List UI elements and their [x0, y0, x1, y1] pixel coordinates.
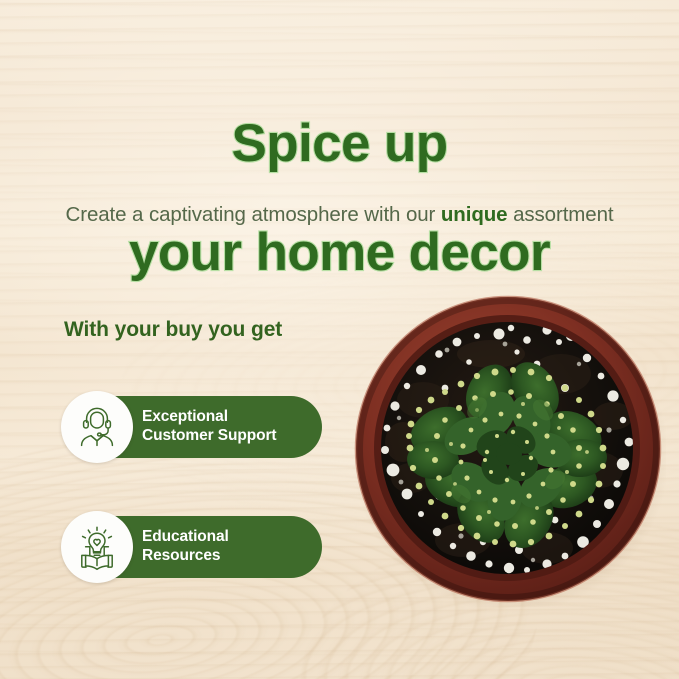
subtitle-emphasis: unique	[441, 203, 508, 226]
subtitle-text-after: assortment	[507, 203, 613, 226]
benefit-pill-label: Exceptional Customer Support	[142, 408, 276, 446]
product-photo-potted-succulent	[351, 292, 666, 607]
headset-support-agent-icon	[61, 391, 133, 463]
headline-line-2: your home decor	[0, 226, 679, 281]
promo-graphic: Spice up your home decor Create a captiv…	[0, 0, 679, 679]
subtitle-text-before: Create a captivating atmosphere with our	[66, 203, 441, 226]
benefit-pill-educational-resources: Educational Resources	[66, 516, 322, 578]
benefit-pill-customer-support: Exceptional Customer Support	[66, 396, 322, 458]
lightbulb-book-icon	[61, 511, 133, 583]
benefits-heading: With your buy you get	[64, 318, 282, 342]
benefit-pill-label: Educational Resources	[142, 528, 229, 566]
headline-line-1: Spice up	[0, 117, 679, 172]
subtitle: Create a captivating atmosphere with our…	[0, 203, 679, 227]
